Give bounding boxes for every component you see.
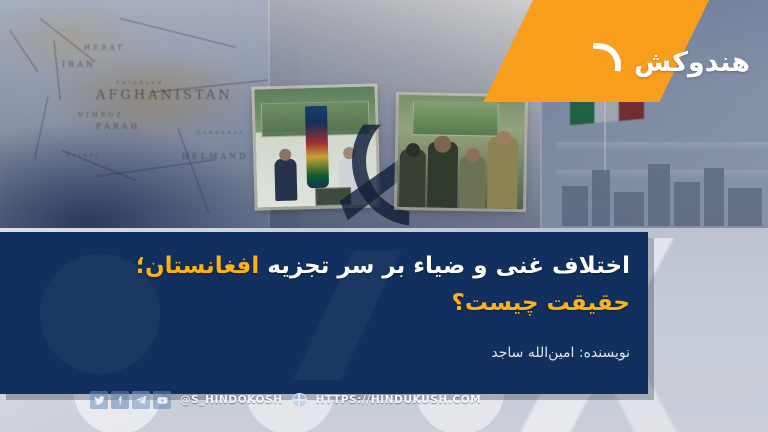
website-url[interactable]: HTTPS://HINDUKUSH.COM: [316, 394, 482, 406]
social-icon-group: [90, 391, 171, 409]
globe-icon: [292, 393, 307, 408]
poster-canvas: AFGHANISTAN HERAT IRAN FARAH NIMROZ HELM…: [0, 0, 768, 432]
hindukush-logo-mark-icon: [590, 42, 630, 82]
headline-block: اختلاف غنی و ضیاء بر سر تجزیه افغانستان؛…: [18, 248, 630, 323]
headline-plain-text: اختلاف غنی و ضیاء بر سر تجزیه: [259, 253, 630, 279]
youtube-icon[interactable]: [153, 391, 171, 409]
twitter-icon[interactable]: [90, 391, 108, 409]
facebook-icon[interactable]: [111, 391, 129, 409]
title-banner: اختلاف غنی و ضیاء بر سر تجزیه افغانستان؛…: [0, 232, 648, 394]
author-byline: نویسنده: امین‌الله ساجد: [491, 345, 630, 361]
photo-soldiers-group: [397, 95, 525, 209]
footer-social-bar: @S_HINDOKOSH HTTPS://HINDUKUSH.COM: [0, 388, 768, 412]
social-handle[interactable]: @S_HINDOKOSH: [180, 394, 283, 406]
headline-line-1: اختلاف غنی و ضیاء بر سر تجزیه افغانستان؛: [18, 248, 630, 285]
headline-line-2: حقیقت چیست؟: [18, 285, 630, 322]
telegram-icon[interactable]: [132, 391, 150, 409]
site-logo[interactable]: هندوکش: [560, 36, 750, 88]
headline-highlight-text: افغانستان؛: [136, 253, 259, 279]
logo-wordmark: هندوکش: [634, 49, 750, 76]
